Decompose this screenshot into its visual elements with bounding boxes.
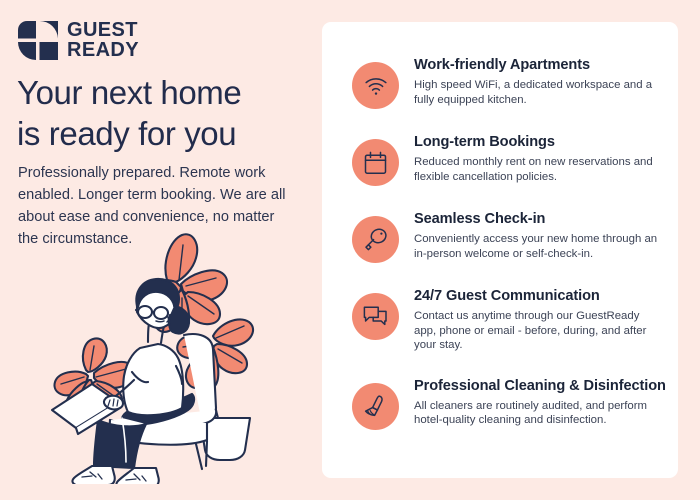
headline-line-1: Your next home — [17, 72, 317, 113]
feature-title: Long-term Bookings — [414, 133, 664, 151]
brand-logo[interactable]: GUEST READY — [18, 20, 139, 60]
feature-text: 24/7 Guest Communication Contact us anyt… — [399, 287, 664, 353]
wifi-icon — [352, 62, 399, 109]
feature-text: Work-friendly Apartments High speed WiFi… — [399, 56, 664, 107]
feature-text: Professional Cleaning & Disinfection All… — [399, 377, 664, 428]
feature-title: Work-friendly Apartments — [414, 56, 664, 74]
key-icon — [352, 216, 399, 263]
feature-title: Seamless Check-in — [414, 210, 664, 228]
left-panel: GUEST READY Your next home is ready for … — [0, 0, 322, 500]
brand-wordmark: GUEST READY — [67, 20, 139, 60]
feature-description: Reduced monthly rent on new reservations… — [414, 155, 664, 184]
feature-description: All cleaners are routinely audited, and … — [414, 399, 664, 428]
feature-title: 24/7 Guest Communication — [414, 287, 664, 305]
calendar-icon — [352, 139, 399, 186]
brand-name-line1: GUEST — [67, 20, 139, 40]
list-item[interactable]: Professional Cleaning & Disinfection All… — [322, 377, 678, 430]
page-title: Your next home is ready for you — [17, 72, 317, 154]
feature-title: Professional Cleaning & Disinfection — [414, 377, 664, 395]
feature-text: Long-term Bookings Reduced monthly rent … — [399, 133, 664, 184]
feature-description: Contact us anytime through our GuestRead… — [414, 309, 664, 353]
features-list: Work-friendly Apartments High speed WiFi… — [322, 22, 678, 478]
feature-description: High speed WiFi, a dedicated workspace a… — [414, 78, 664, 107]
promo-page: GUEST READY Your next home is ready for … — [0, 0, 700, 500]
features-card: Work-friendly Apartments High speed WiFi… — [322, 22, 678, 478]
woman-working-illustration — [36, 222, 314, 484]
guestready-quadrant-logo-icon — [18, 21, 58, 60]
list-item[interactable]: Seamless Check-in Conveniently access yo… — [322, 210, 678, 263]
broom-icon — [352, 383, 399, 430]
feature-text: Seamless Check-in Conveniently access yo… — [399, 210, 664, 261]
list-item[interactable]: 24/7 Guest Communication Contact us anyt… — [322, 287, 678, 353]
headline-line-2: is ready for you — [17, 113, 317, 154]
list-item[interactable]: Work-friendly Apartments High speed WiFi… — [322, 56, 678, 109]
chat-bubbles-icon — [352, 293, 399, 340]
list-item[interactable]: Long-term Bookings Reduced monthly rent … — [322, 133, 678, 186]
feature-description: Conveniently access your new home throug… — [414, 232, 664, 261]
brand-name-line2: READY — [67, 40, 139, 60]
